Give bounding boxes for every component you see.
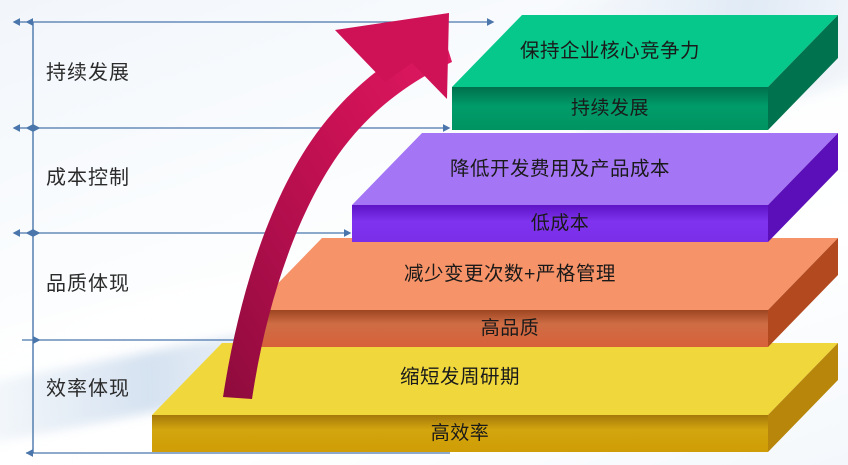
growth-arrow-shaft xyxy=(223,33,452,399)
diagram-canvas: 持续发展 成本控制 品质体现 效率体现 xyxy=(0,0,848,465)
growth-arrow xyxy=(0,0,848,465)
